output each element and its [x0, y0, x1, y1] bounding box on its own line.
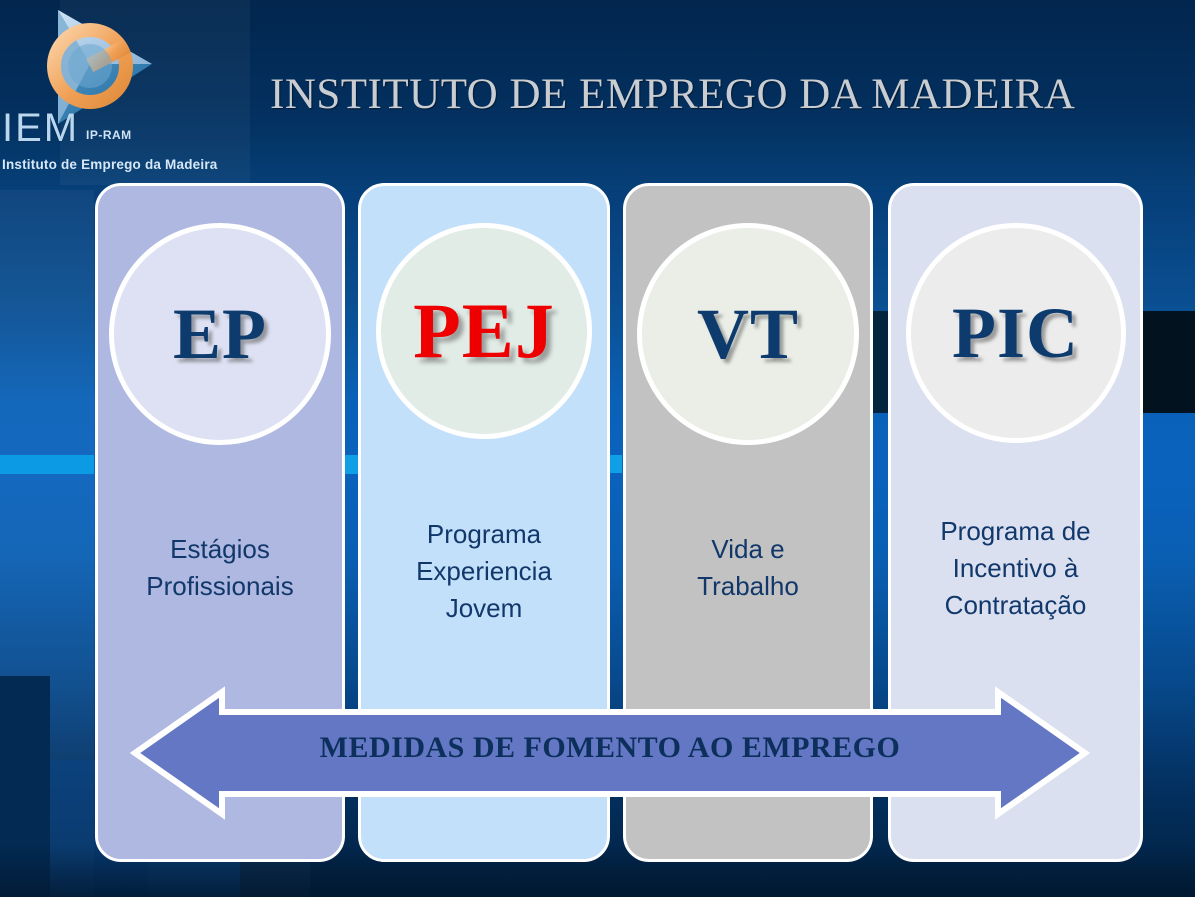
acronym-label-pic: PIC	[952, 297, 1079, 369]
caption-line: Programa de	[899, 513, 1132, 550]
caption-line: Programa	[369, 516, 599, 553]
caption-line: Contratação	[899, 587, 1132, 624]
acronym-label-pej: PEJ	[413, 292, 555, 370]
slide-canvas: IEM IP-RAM Instituto de Emprego da Madei…	[0, 0, 1195, 897]
acronym-label-ep: EP	[173, 298, 267, 370]
card-caption-pej: Programa Experiencia Jovem	[369, 516, 599, 627]
programme-cards: EP Estágios Profissionais PEJ Programa E…	[0, 0, 1195, 897]
programme-card-pej[interactable]: PEJ Programa Experiencia Jovem	[358, 183, 610, 862]
acronym-circle-pej: PEJ	[376, 223, 592, 439]
caption-line: Vida e	[634, 531, 862, 568]
acronym-circle-pic: PIC	[906, 223, 1126, 443]
caption-line: Estágios	[106, 531, 334, 568]
caption-line: Jovem	[369, 590, 599, 627]
acronym-circle-ep: EP	[109, 223, 331, 445]
caption-line: Profissionais	[106, 568, 334, 605]
caption-line: Trabalho	[634, 568, 862, 605]
card-caption-pic: Programa de Incentivo à Contratação	[899, 513, 1132, 624]
caption-line: Incentivo à	[899, 550, 1132, 587]
acronym-label-vt: VT	[697, 298, 799, 370]
card-caption-vt: Vida e Trabalho	[634, 531, 862, 605]
programme-card-vt[interactable]: VT Vida e Trabalho	[623, 183, 873, 862]
card-caption-ep: Estágios Profissionais	[106, 531, 334, 605]
programme-card-pic[interactable]: PIC Programa de Incentivo à Contratação	[888, 183, 1143, 862]
programme-card-ep[interactable]: EP Estágios Profissionais	[95, 183, 345, 862]
caption-line: Experiencia	[369, 553, 599, 590]
acronym-circle-vt: VT	[637, 223, 859, 445]
